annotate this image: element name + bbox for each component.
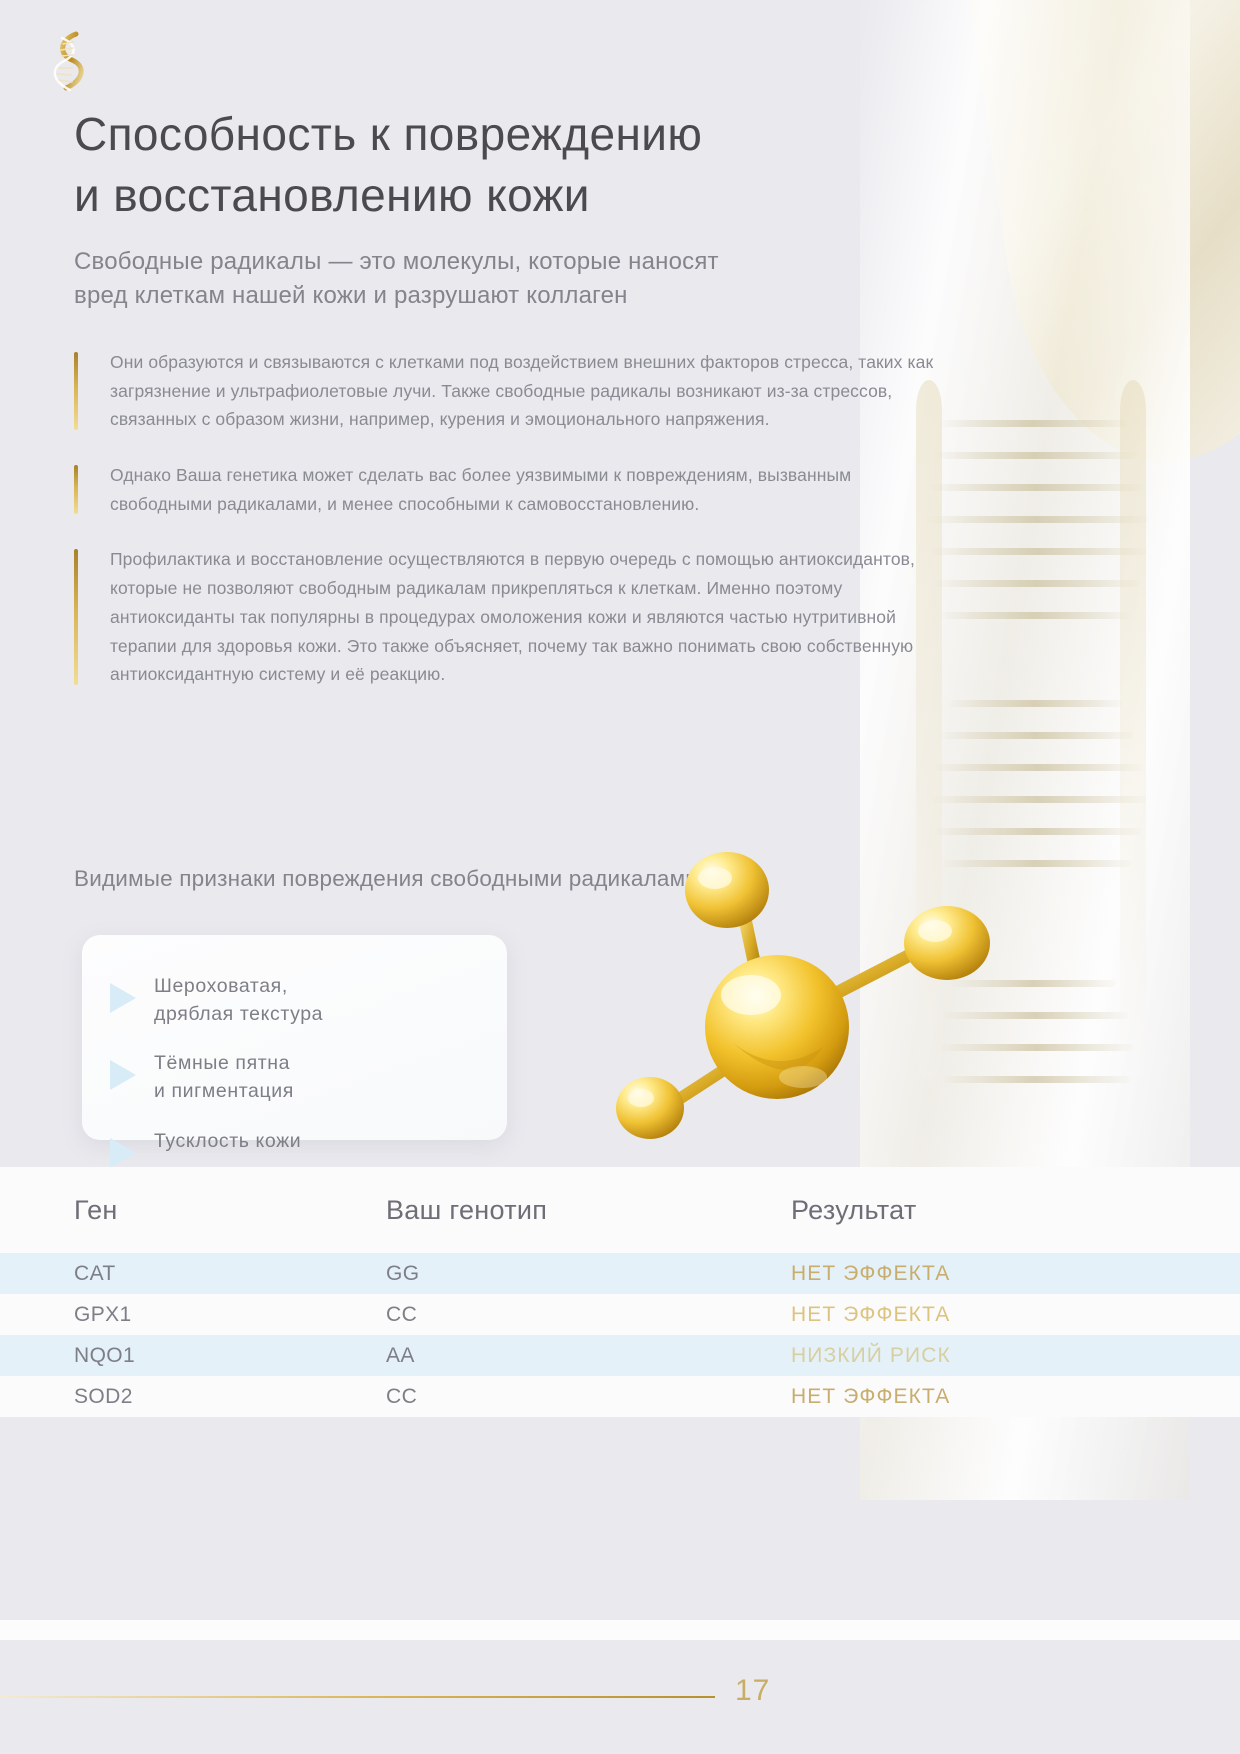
table-header-row: Ген Ваш генотип Результат: [0, 1167, 1240, 1253]
table-row: CAT GG НЕТ ЭФФЕКТА: [0, 1253, 1240, 1294]
triangle-bullet-icon: [110, 1138, 136, 1168]
info-block-text: Однако Ваша генетика может сделать вас б…: [110, 461, 934, 518]
footer-gold-rule: [0, 1696, 715, 1698]
cell-genotype: CC: [386, 1385, 791, 1409]
column-header-result: Результат: [791, 1195, 1171, 1226]
cell-genotype: GG: [386, 1262, 791, 1286]
list-item-label: Тёмные пятна и пигментация: [154, 1050, 294, 1105]
info-block-text: Они образуются и связываются с клетками …: [110, 348, 934, 434]
info-block-text: Профилактика и восстановление осуществля…: [110, 545, 934, 688]
page-subtitle: Свободные радикалы — это молекулы, котор…: [74, 245, 944, 313]
gold-molecule-illustration: [555, 845, 1025, 1175]
dna-ribbon-top: [965, 0, 1240, 480]
list-item-label: Шероховатая, дряблая текстура: [154, 973, 323, 1028]
cell-gene: NQO1: [74, 1344, 386, 1368]
column-header-gene: Ген: [74, 1195, 386, 1226]
list-item: Тусклость кожи: [110, 1128, 507, 1168]
cell-gene: GPX1: [74, 1303, 386, 1327]
table-bottom-edge: [0, 1620, 1240, 1640]
dna-helix-logo: [42, 28, 96, 98]
visible-signs-card: Шероховатая, дряблая текстура Тёмные пят…: [82, 935, 507, 1140]
cell-gene: SOD2: [74, 1385, 386, 1409]
cell-result: НЕТ ЭФФЕКТА: [791, 1385, 1171, 1409]
cell-genotype: AA: [386, 1344, 791, 1368]
results-table: Ген Ваш генотип Результат CAT GG НЕТ ЭФФ…: [0, 1167, 1240, 1417]
cell-result: НЕТ ЭФФЕКТА: [791, 1262, 1171, 1286]
cell-result: НИЗКИЙ РИСК: [791, 1344, 1171, 1368]
gold-accent-bar: [74, 352, 78, 430]
info-block: Однако Ваша генетика может сделать вас б…: [74, 461, 934, 518]
table-row: SOD2 CC НЕТ ЭФФЕКТА: [0, 1376, 1240, 1417]
triangle-bullet-icon: [110, 1060, 136, 1090]
list-item-label: Тусклость кожи: [154, 1128, 301, 1156]
gold-accent-bar: [74, 549, 78, 684]
page-title: Способность к повреждению и восстановлен…: [74, 104, 914, 226]
info-blocks: Они образуются и связываются с клетками …: [74, 348, 934, 716]
page-number: 17: [735, 1674, 770, 1708]
table-row: GPX1 CC НЕТ ЭФФЕКТА: [0, 1294, 1240, 1335]
table-row: NQO1 AA НИЗКИЙ РИСК: [0, 1335, 1240, 1376]
cell-result: НЕТ ЭФФЕКТА: [791, 1303, 1171, 1327]
triangle-bullet-icon: [110, 983, 136, 1013]
info-block: Они образуются и связываются с клетками …: [74, 348, 934, 434]
list-item: Тёмные пятна и пигментация: [110, 1050, 507, 1105]
page-footer: 17: [0, 1640, 1240, 1754]
gold-accent-bar: [74, 465, 78, 514]
column-header-genotype: Ваш генотип: [386, 1195, 791, 1226]
info-block: Профилактика и восстановление осуществля…: [74, 545, 934, 688]
cell-genotype: CC: [386, 1303, 791, 1327]
list-item: Шероховатая, дряблая текстура: [110, 973, 507, 1028]
cell-gene: CAT: [74, 1262, 386, 1286]
